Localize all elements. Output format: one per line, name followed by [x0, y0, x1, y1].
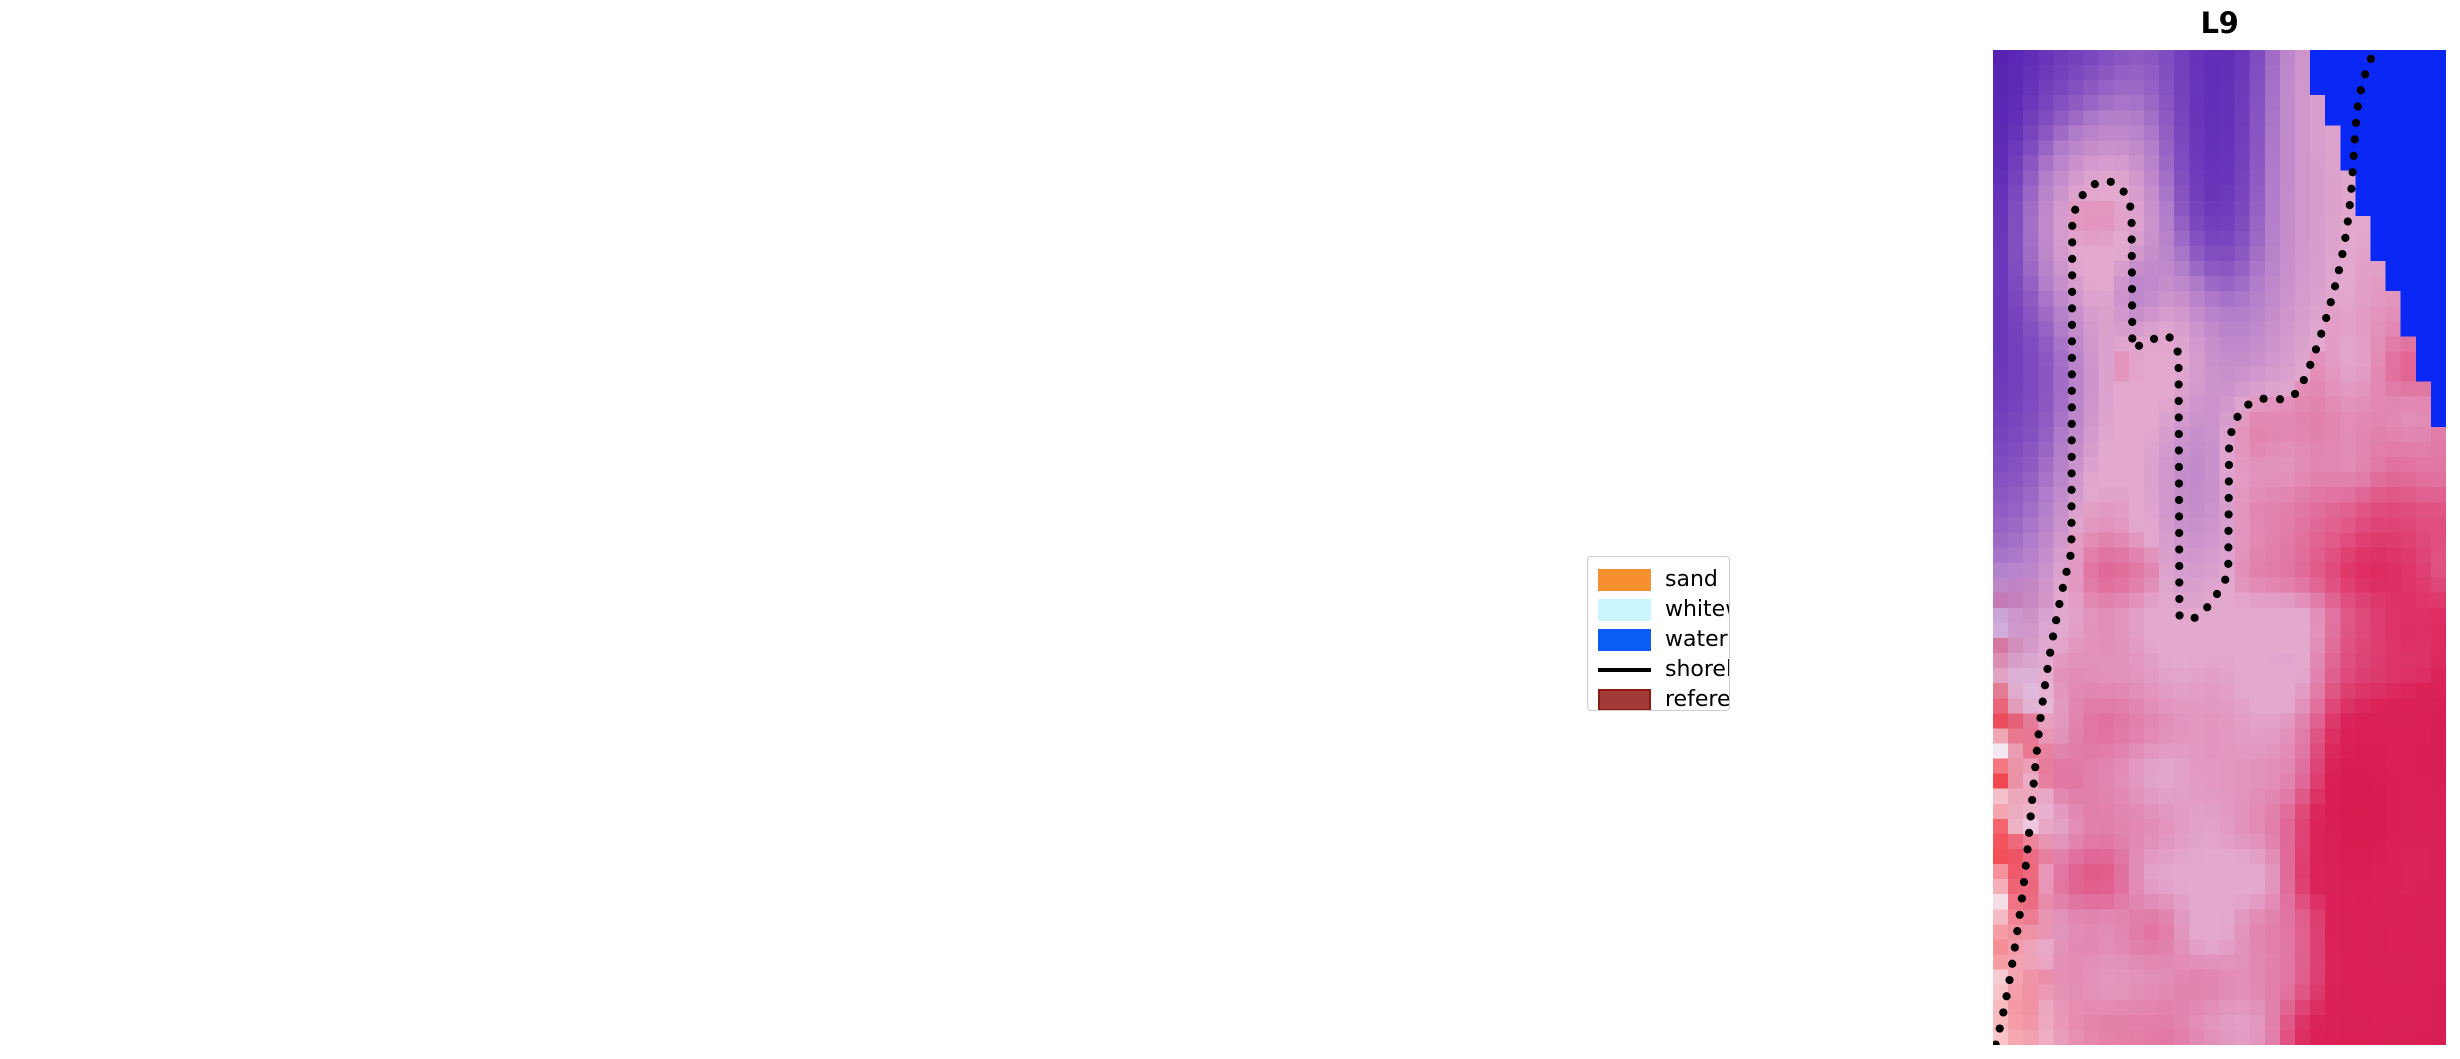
- legend-swatch-whitewater: [1598, 599, 1651, 621]
- panel-title-sar0003: sar0003: [14, 6, 467, 40]
- legend-label-sand: sand: [1665, 569, 1718, 591]
- legend-label-water: water: [1665, 629, 1728, 651]
- axes-l9[interactable]: [1993, 50, 2446, 1045]
- legend-label-reference: reference: [1665, 689, 1730, 711]
- legend-item-sand: sand: [1598, 565, 1719, 595]
- image-l9: [1993, 50, 2446, 1045]
- panel-title-classified: 2024-01-30-10-00-14: [1003, 6, 1456, 40]
- legend-item-shoreline: shoreline: [1598, 655, 1719, 685]
- legend-swatch-reference: [1598, 689, 1651, 711]
- figure-canvas: sar0003 2024-01-30-10-00-14 L9 sandwhite…: [0, 0, 2460, 1059]
- legend-item-whitewater: whitewater: [1598, 595, 1719, 625]
- legend-item-water: water: [1598, 625, 1719, 655]
- legend-label-whitewater: whitewater: [1665, 599, 1730, 621]
- legend-swatch-sand: [1598, 569, 1651, 591]
- image-classified: [1003, 50, 1456, 1045]
- legend: sandwhitewaterwatershorelinereference: [1587, 556, 1730, 711]
- panel-title-l9: L9: [1993, 6, 2446, 40]
- legend-label-shoreline: shoreline: [1665, 659, 1730, 681]
- legend-item-reference: reference: [1598, 685, 1719, 711]
- legend-swatch-water: [1598, 629, 1651, 651]
- axes-sar0003[interactable]: [14, 50, 467, 1045]
- axes-classified[interactable]: [1003, 50, 1456, 1045]
- legend-line-shoreline: [1598, 659, 1651, 681]
- image-sar0003: [14, 50, 467, 1045]
